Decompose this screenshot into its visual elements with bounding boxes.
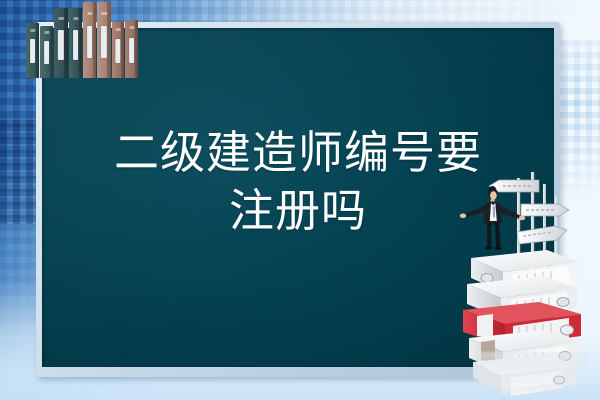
binder-ring — [30, 29, 35, 32]
binder-label — [101, 26, 107, 58]
businessman-on-binder-stack-illustration — [455, 170, 600, 400]
binder-ring — [116, 28, 121, 31]
binder-label — [58, 30, 64, 60]
binder-label — [115, 39, 120, 63]
binder-shade — [135, 20, 138, 78]
binder-3 — [54, 8, 68, 78]
binder-ring — [58, 17, 64, 20]
binder-stack — [463, 250, 581, 396]
binder-8 — [125, 20, 138, 78]
binder-2 — [40, 26, 53, 78]
signpost-arrow-right-1 — [521, 204, 569, 216]
binder-6 — [97, 2, 111, 78]
binder-label — [129, 38, 135, 63]
binder-shade — [121, 22, 124, 78]
binder-shade — [64, 8, 68, 78]
binder-label — [30, 39, 36, 63]
binder-1 — [26, 23, 39, 78]
binder-ring — [87, 12, 92, 15]
binder-label — [73, 30, 79, 60]
binder-shade — [93, 2, 96, 78]
binder-shade — [50, 26, 53, 78]
binder-ring — [101, 12, 107, 15]
binder-label — [44, 41, 50, 64]
binder-shade — [79, 8, 82, 78]
binder-ring — [129, 26, 134, 29]
binder-label — [87, 26, 93, 58]
binder-ring — [44, 31, 49, 34]
cover-image: 二级建造师编号要 注册吗 — [0, 0, 600, 400]
binder-ring — [73, 17, 78, 20]
signpost-arrow-right-2 — [517, 226, 567, 244]
binder-5 — [83, 2, 96, 78]
ring-binder-row — [8, 0, 104, 78]
binder-7 — [112, 22, 124, 78]
binder-shade — [107, 2, 111, 78]
binder-shade — [36, 23, 39, 78]
businessman-figure — [460, 186, 525, 250]
binder-4 — [69, 8, 82, 78]
